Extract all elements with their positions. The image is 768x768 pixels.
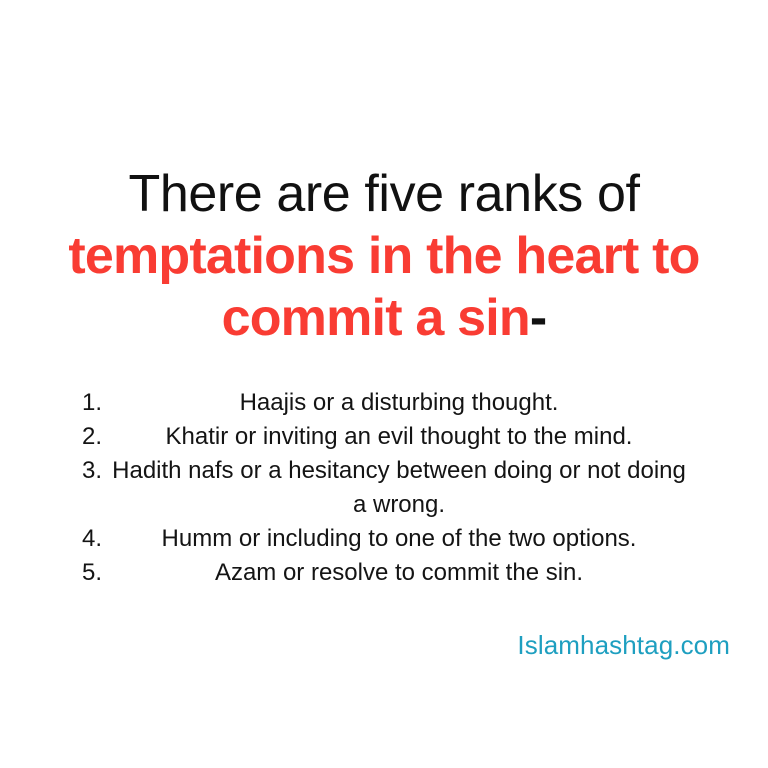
list-item-number: 4. <box>72 522 106 556</box>
list-item-number: 5. <box>72 556 106 590</box>
list-item-number: 2. <box>72 420 106 454</box>
page-title: There are five ranks of temptations in t… <box>0 163 768 349</box>
heading-line-3-text: commit a sin <box>222 289 530 347</box>
list-item: 2. Khatir or inviting an evil thought to… <box>72 420 696 454</box>
ranks-list: 1. Haajis or a disturbing thought. 2. Kh… <box>72 386 696 590</box>
list-item-label: Humm or including to one of the two opti… <box>106 522 696 556</box>
list-item-number: 3. <box>72 454 106 488</box>
site-watermark: Islamhashtag.com <box>517 628 730 662</box>
list-item-label: Khatir or inviting an evil thought to th… <box>106 420 696 454</box>
list-item-label: Haajis or a disturbing thought. <box>106 386 696 420</box>
heading-line-3: commit a sin- <box>0 287 768 349</box>
list-item-number: 1. <box>72 386 106 420</box>
poster-canvas: There are five ranks of temptations in t… <box>0 0 768 768</box>
list-item-label: Hadith nafs or a hesitancy between doing… <box>106 454 696 522</box>
list-item: 5. Azam or resolve to commit the sin. <box>72 556 696 590</box>
heading-line-2: temptations in the heart to <box>0 225 768 287</box>
list-item: 4. Humm or including to one of the two o… <box>72 522 696 556</box>
heading-trailing-dash: - <box>530 289 547 347</box>
list-item: 3. Hadith nafs or a hesitancy between do… <box>72 454 696 522</box>
heading-line-1: There are five ranks of <box>0 163 768 225</box>
list-item: 1. Haajis or a disturbing thought. <box>72 386 696 420</box>
list-item-label: Azam or resolve to commit the sin. <box>106 556 696 590</box>
